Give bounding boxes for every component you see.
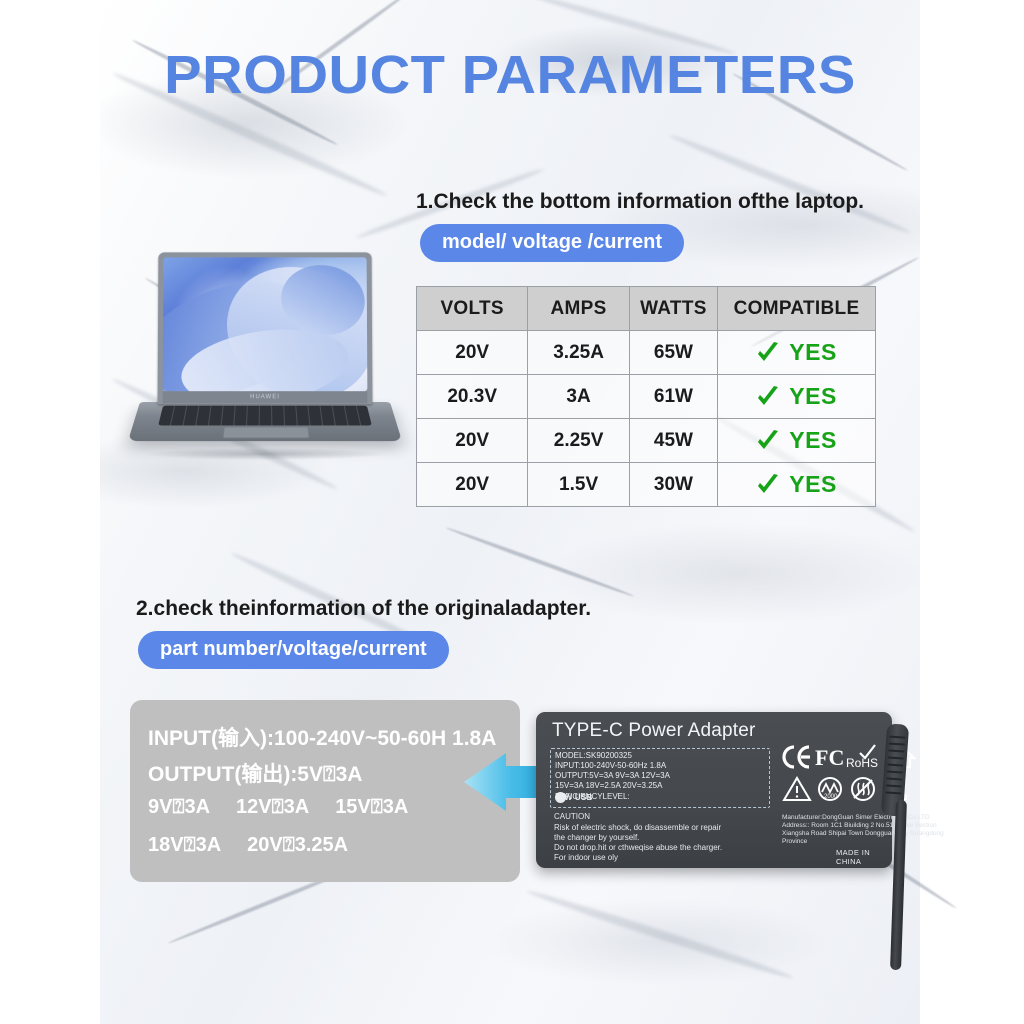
cell-compatible: YES [718, 331, 876, 375]
product-parameters-infographic: PRODUCT PARAMETERS 1.Check the bottom in… [0, 0, 1024, 1024]
laptop-brand-label: HUAWEI [163, 391, 368, 403]
adapter-spec-box: MODEL:SK90200325 INPUT:100-240V-50-60Hz … [550, 748, 770, 808]
manufacturer-line: Xiangsha Road Shipai Town Dongguan City … [782, 830, 944, 838]
specs-15v: 15V⍰3A [335, 796, 408, 818]
step-2-heading: 2.check theinformation of the originalad… [136, 597, 591, 621]
cell-amps: 2.25V [528, 419, 629, 463]
compatibility-table: VOLTS AMPS WATTS COMPATIBLE 20V 3.25A 65… [416, 286, 876, 507]
table-row: 20V 2.25V 45W YES [417, 419, 876, 463]
cell-volts: 20V [417, 463, 528, 507]
specs-20v: 20V⍰3.25A [247, 834, 348, 856]
ul-mark-icon: 2000 [815, 776, 845, 802]
step-1-heading: 1.Check the bottom information ofthe lap… [416, 190, 864, 214]
cell-amps: 1.5V [528, 463, 629, 507]
adapter-title: TYPE-C Power Adapter [552, 720, 756, 742]
specs-output-row-3: 9V⍰3A12V⍰3A15V⍰3A [148, 796, 408, 819]
cell-compatible: YES [718, 375, 876, 419]
wattage-badge: 65W USB [555, 793, 593, 802]
power-adapter-image: TYPE-C Power Adapter MODEL:SK90200325 IN… [536, 712, 892, 868]
table-row: 20V 1.5V 30W YES [417, 463, 876, 507]
caution-heading: CAUTION [554, 812, 722, 822]
table-row: 20.3V 3A 61W YES [417, 375, 876, 419]
col-header-amps: AMPS [528, 287, 629, 331]
caution-block: CAUTION Risk of electric shock, do disas… [554, 812, 722, 863]
cell-volts: 20V [417, 419, 528, 463]
compatible-label: YES [789, 471, 837, 497]
laptop-base [128, 402, 402, 441]
svg-text:RoHS: RoHS [846, 756, 878, 770]
svg-text:FC: FC [815, 745, 844, 770]
table-row: 20V 3.25A 65W YES [417, 331, 876, 375]
specs-input-line: INPUT(输入):100-240V~50-60H 1.8A [148, 722, 496, 752]
checkmark-icon [756, 341, 780, 365]
caution-line: Risk of electric shock, do disassemble o… [554, 823, 722, 833]
compatible-label: YES [789, 339, 837, 365]
caution-line: the changer by yourself. [554, 833, 722, 843]
laptop-screen [163, 257, 368, 391]
cell-compatible: YES [718, 419, 876, 463]
cell-volts: 20V [417, 331, 528, 375]
manufacturer-block: Manufacturer:DongGuan Simer Electronics … [782, 814, 944, 846]
checkmark-icon [756, 473, 780, 497]
step-1-pill-label: model/ voltage /current [420, 224, 684, 262]
table-header-row: VOLTS AMPS WATTS COMPATIBLE [417, 287, 876, 331]
compatible-label: YES [789, 383, 837, 409]
cell-watts: 30W [629, 463, 717, 507]
specs-9v: 9V⍰3A [148, 796, 210, 818]
manufacturer-line: Manufacturer:DongGuan Simer Electronics … [782, 814, 944, 822]
warning-triangle-icon [782, 776, 812, 802]
checkmark-icon [756, 429, 780, 453]
specs-12v: 12V⍰3A [236, 796, 309, 818]
manufacturer-line: Province [782, 838, 944, 846]
page-title: PRODUCT PARAMETERS [84, 44, 937, 106]
made-in-label: MADE IN CHINA [836, 848, 892, 866]
col-header-volts: VOLTS [417, 287, 528, 331]
adapter-model: MODEL:SK90200325 [555, 751, 632, 760]
laptop-lid: HUAWEI [158, 252, 373, 404]
cell-watts: 45W [629, 419, 717, 463]
laptop-shadow [142, 448, 388, 460]
specs-18v: 18V⍰3A [148, 834, 221, 856]
cell-volts: 20.3V [417, 375, 528, 419]
cell-watts: 61W [629, 375, 717, 419]
adapter-input: INPUT:100-240V-50-60Hz 1.8A [555, 761, 666, 770]
cell-amps: 3A [528, 375, 629, 419]
cell-amps: 3.25A [528, 331, 629, 375]
manufacturer-line: Address:: Room 1C1 Biuilding 2 No.51 Shi… [782, 822, 944, 830]
cell-compatible: YES [718, 463, 876, 507]
no-heat-mark-icon [848, 776, 878, 802]
laptop-image: HUAWEI [140, 252, 390, 482]
adapter-output-2: 15V=3A 18V=2.5A 20V=3.25A [555, 781, 662, 790]
checkmark-icon [756, 385, 780, 409]
certification-icons: FC RoHS [782, 744, 878, 806]
fcc-mark-icon: FC [815, 744, 845, 770]
caution-line: Do not drop.hit or cthweqise abuse the c… [554, 843, 722, 853]
caution-line: For indoor use oly [554, 853, 722, 863]
col-header-watts: WATTS [629, 287, 717, 331]
rohs-mark-icon: RoHS [846, 744, 880, 770]
ce-mark-icon [782, 744, 812, 770]
step-2-pill-label: part number/voltage/current [138, 631, 449, 669]
laptop-trackpad [223, 427, 310, 438]
laptop-keyboard [158, 406, 372, 426]
adapter-output-1: OUTPUT:5V=3A 9V=3A 12V=3A [555, 771, 670, 780]
specs-output-row-4: 18V⍰3A20V⍰3.25A [148, 834, 348, 857]
specs-output-line: OUTPUT(输出):5V⍰3A [148, 758, 362, 788]
svg-text:2000: 2000 [824, 794, 838, 800]
cell-watts: 65W [629, 331, 717, 375]
compatible-label: YES [789, 427, 837, 453]
col-header-compatible: COMPATIBLE [718, 287, 876, 331]
